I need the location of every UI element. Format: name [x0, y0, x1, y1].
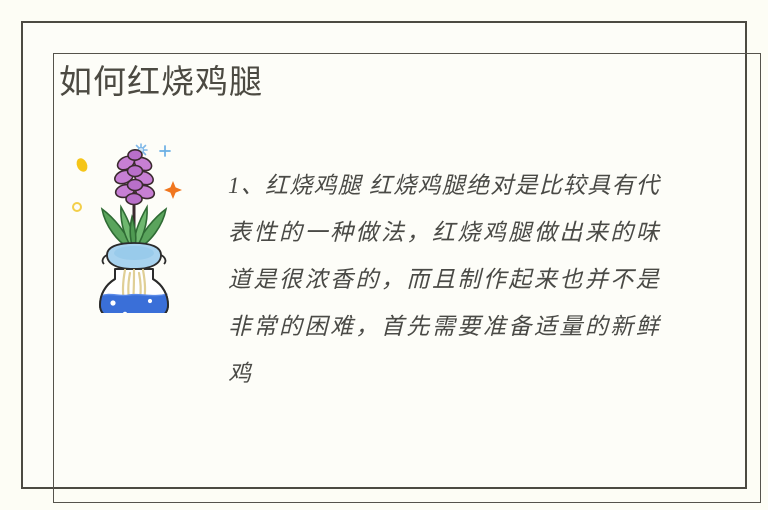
sparkle-blue-plus-icon [160, 146, 170, 156]
sparkle-yellow-ring-icon [73, 203, 81, 211]
hyacinth-illustration [55, 133, 215, 313]
article-paragraph: 1、红烧鸡腿 红烧鸡腿绝对是比较具有代表性的一种做法，红烧鸡腿做出来的味道是很浓… [228, 162, 660, 397]
sparkle-yellow-blob-icon [75, 157, 90, 174]
page-title: 如何红烧鸡腿 [59, 61, 263, 103]
jar-water [101, 294, 168, 313]
hyacinth-petals [113, 149, 156, 204]
jar-collar [103, 243, 166, 269]
sparkle-orange-star-icon [164, 181, 182, 199]
document-page: 如何红烧鸡腿 [0, 0, 768, 510]
